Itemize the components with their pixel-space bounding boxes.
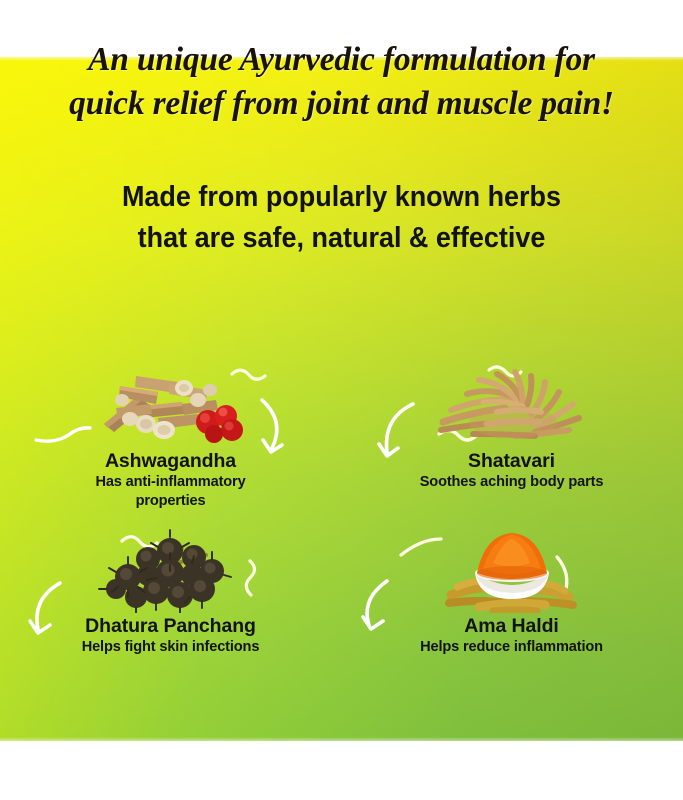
dhatura-panchang-icon	[86, 529, 256, 613]
herb-desc-line-2: properties	[0, 492, 341, 510]
herb-desc-line-1: Has anti-inflammatory	[0, 473, 341, 491]
ashwagandha-icon	[86, 364, 256, 448]
shatavari-labels: Shatavari Soothes aching body parts	[341, 450, 682, 491]
herb-name: Ama Haldi	[341, 615, 682, 637]
herb-desc-line-1: Helps reduce inflammation	[341, 638, 682, 656]
herb-name: Shatavari	[341, 450, 682, 472]
headline: An unique Ayurvedic formulation for quic…	[0, 38, 683, 126]
shatavari-image-wrap	[341, 362, 682, 450]
herb-card-ashwagandha: Ashwagandha Has anti-inflammatory proper…	[0, 362, 341, 527]
ama-haldi-image-wrap	[341, 527, 682, 615]
herb-grid: Ashwagandha Has anti-inflammatory proper…	[0, 362, 683, 692]
shatavari-icon	[427, 364, 597, 448]
dhatura-image-wrap	[0, 527, 341, 615]
herb-desc-line-1: Helps fight skin infections	[0, 638, 341, 656]
ama-haldi-labels: Ama Haldi Helps reduce inflammation	[341, 615, 682, 656]
poster-canvas: An unique Ayurvedic formulation for quic…	[0, 0, 683, 800]
headline-line-2: quick relief from joint and muscle pain!	[0, 82, 683, 126]
ama-haldi-icon	[427, 529, 597, 613]
dhatura-labels: Dhatura Panchang Helps fight skin infect…	[0, 615, 341, 656]
subheadline: Made from popularly known herbs that are…	[24, 177, 659, 259]
herb-name: Ashwagandha	[0, 450, 341, 472]
subheadline-line-2: that are safe, natural & effective	[24, 218, 659, 259]
herb-card-shatavari: Shatavari Soothes aching body parts	[341, 362, 682, 527]
herb-name: Dhatura Panchang	[0, 615, 341, 637]
subheadline-line-1: Made from popularly known herbs	[122, 181, 561, 213]
herb-card-ama-haldi: Ama Haldi Helps reduce inflammation	[341, 527, 682, 692]
ashwagandha-image-wrap	[0, 362, 341, 450]
herb-card-dhatura-panchang: Dhatura Panchang Helps fight skin infect…	[0, 527, 341, 692]
headline-line-1: An unique Ayurvedic formulation for	[88, 41, 595, 78]
herb-desc-line-1: Soothes aching body parts	[341, 473, 682, 491]
ashwagandha-labels: Ashwagandha Has anti-inflammatory proper…	[0, 450, 341, 510]
panel-bottom-fade	[0, 737, 683, 741]
